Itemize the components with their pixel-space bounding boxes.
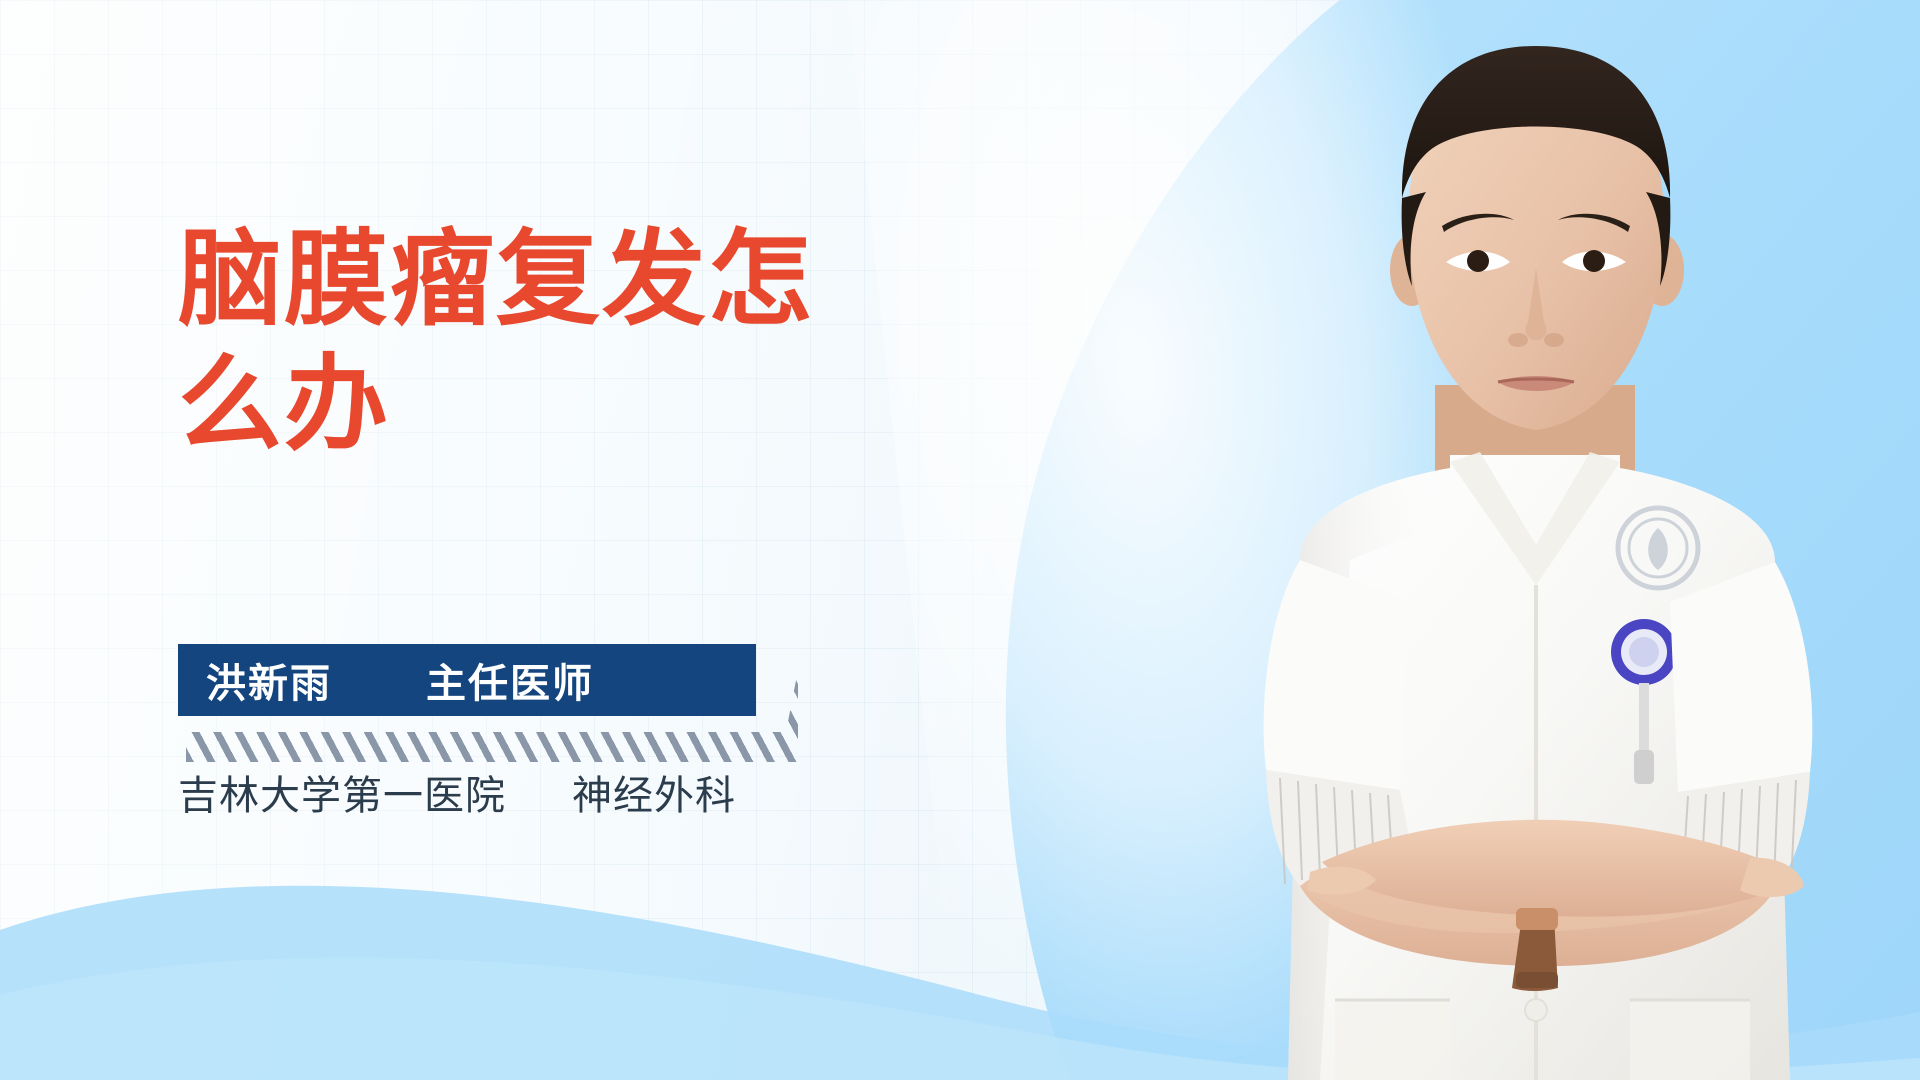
hospital-name: 吉林大学第一医院 bbox=[178, 763, 506, 821]
doctor-portrait bbox=[1150, 0, 1920, 1080]
department-name: 神经外科 bbox=[572, 763, 736, 821]
wristwatch-icon bbox=[1512, 908, 1558, 991]
badge-bar: 洪新雨 主任医师 bbox=[178, 644, 756, 716]
doctor-rank: 主任医师 bbox=[426, 651, 594, 709]
affiliation-line: 吉林大学第一医院 神经外科 bbox=[178, 763, 736, 821]
doctor-name: 洪新雨 bbox=[206, 651, 332, 709]
page-title: 脑膜瘤复发怎 么办 bbox=[178, 218, 1078, 468]
hospital-emblem-icon bbox=[1618, 508, 1698, 588]
doctor-credential-badge: 洪新雨 主任医师 bbox=[178, 644, 798, 764]
video-thumbnail-card: 脑膜瘤复发怎 么办 洪新雨 主任医师 吉林大学第一医院 神经外科 bbox=[0, 0, 1920, 1080]
